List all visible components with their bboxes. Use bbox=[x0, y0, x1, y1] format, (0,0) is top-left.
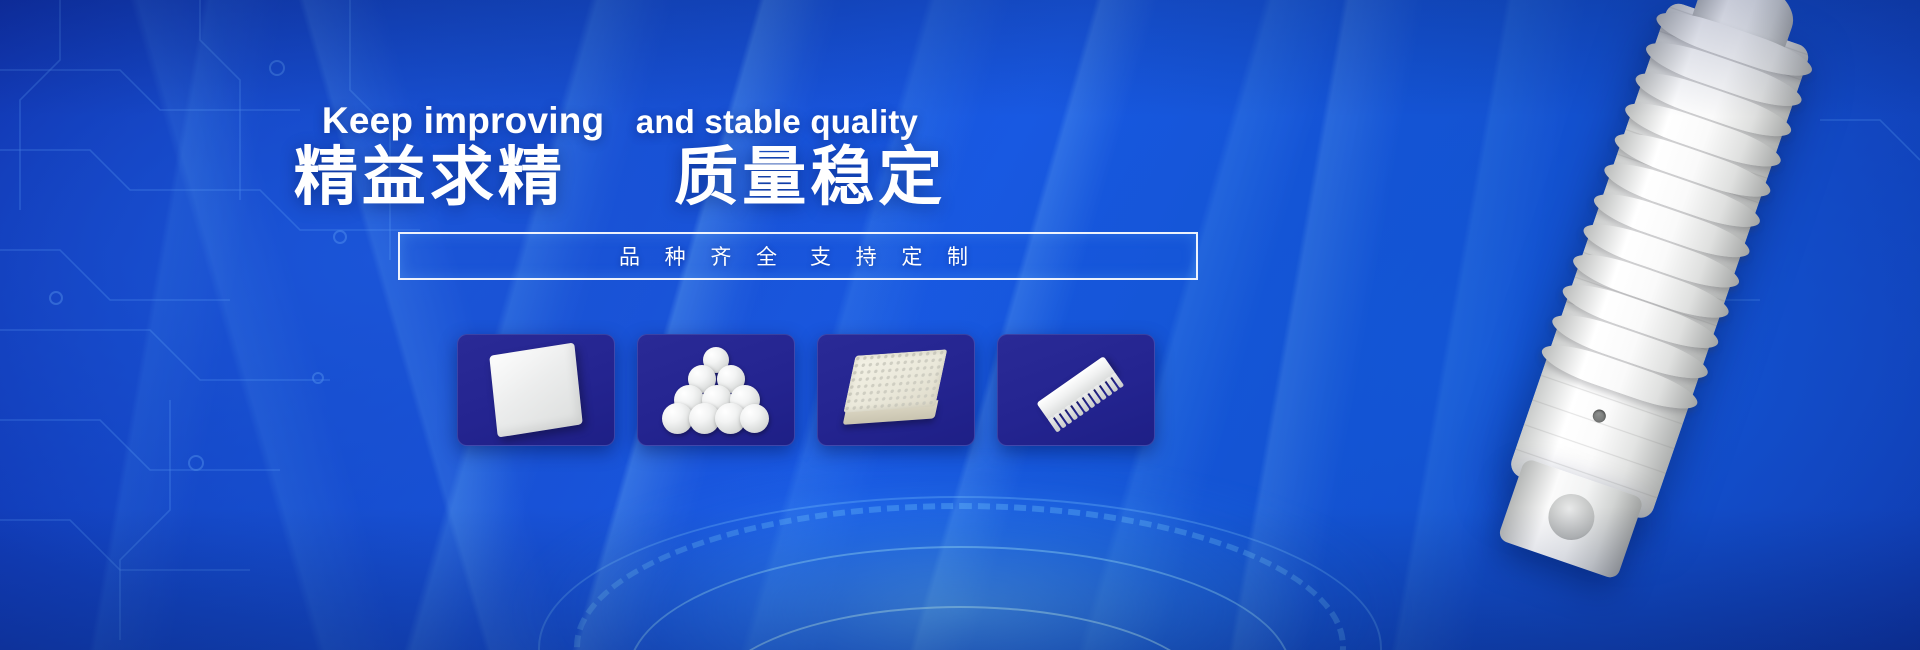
promo-banner: Keep improving and stable quality 精益求精 质… bbox=[0, 0, 1920, 650]
vignette-overlay bbox=[0, 0, 1920, 650]
